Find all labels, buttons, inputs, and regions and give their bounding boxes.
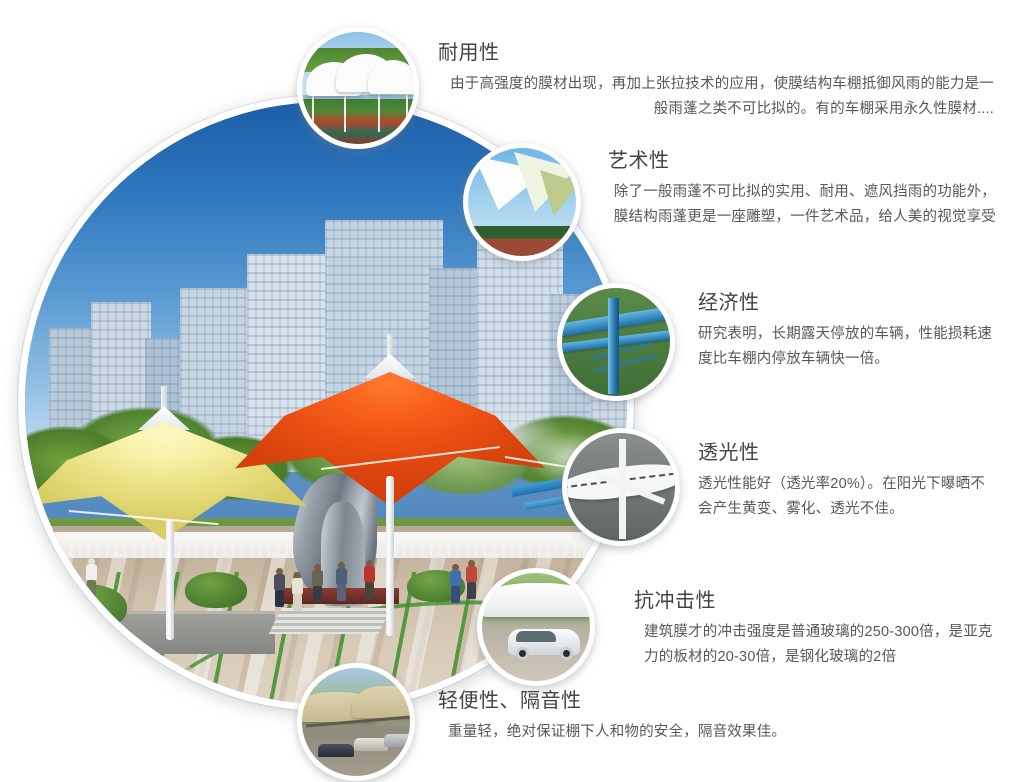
feature-thumb-economy[interactable] [557,283,675,401]
feature-title: 艺术性 [608,148,996,174]
feature-text-impact-resistance: 抗冲击性 建筑膜才的冲击强度是普通玻璃的250-300倍，是亚克力的板材的20-… [634,588,996,670]
pedestrian-legs [275,590,284,607]
thumb-sports-court [302,99,414,144]
thumb-image [302,32,414,144]
pedestrian-legs [451,586,460,603]
pedestrian-torso [312,570,323,587]
blue-steel-column [608,298,619,394]
thumb-image [482,573,590,681]
thumb-image [302,668,410,776]
feature-title: 轻便性、隔音性 [438,688,838,714]
feature-text-durability: 耐用性 由于高强度的膜材出现，再加上张拉技术的应用，使膜结构车棚抵御风雨的能力是… [438,40,994,122]
pedestrian-torso [466,566,477,583]
thumb-image [562,288,670,396]
thumb-image [468,148,576,256]
feature-body: 研究表明，长期露天停放的车辆，性能损耗速度比车棚内停放车辆快一倍。 [698,322,998,372]
feature-body: 由于高强度的膜材出现，再加上张拉技术的应用，使膜结构车棚抵御风雨的能力是一般雨蓬… [438,72,994,122]
parked-car [318,744,354,757]
thumb-running-track [468,226,576,256]
pedestrian-torso [364,566,375,583]
pedestrian-torso [336,568,347,585]
feature-text-lightweight-soundproof: 轻便性、隔音性 重量轻，绝对保证棚下人和物的安全，隔音效果佳。 [438,688,838,745]
parked-car [354,738,388,751]
suv-windows [516,631,556,642]
canopy-mast [166,520,174,640]
canopy-mast [386,476,394,636]
pedestrian-legs [365,582,374,599]
pedestrian-torso [274,574,285,591]
feature-body: 重量轻，绝对保证棚下人和物的安全，隔音效果佳。 [438,720,838,745]
feature-thumb-durability[interactable] [297,27,419,149]
feature-text-artistry: 艺术性 除了一般雨蓬不可比拟的实用、耐用、遮风挡雨的功能外，膜结构雨蓬更是一座雕… [608,148,996,230]
carport-roof [482,583,590,617]
infographic-stage: 耐用性 由于高强度的膜材出现，再加上张拉技术的应用，使膜结构车棚抵御风雨的能力是… [0,0,1023,782]
feature-body: 除了一般雨蓬不可比拟的实用、耐用、遮风挡雨的功能外，膜结构雨蓬更是一座雕塑，一件… [608,180,996,230]
pedestrian-legs [87,580,96,597]
beige-carport-roof [352,686,410,718]
suv-wheel [560,647,573,660]
pedestrian-legs [293,594,302,611]
feature-title: 经济性 [698,290,998,316]
pedestrian-torso [292,578,303,595]
pedestrian-legs [467,582,476,599]
feature-text-translucency: 透光性 透光性能好（透光率20%）。在阳光下曝晒不会产生黄变、雾化、透光不佳。 [698,440,998,522]
pedestrian-torso [86,564,97,581]
suv-wheel [516,647,529,660]
orange-membrane-canopy [235,348,545,518]
pedestrian-torso [450,570,461,587]
thumb-image [567,433,675,541]
feature-title: 耐用性 [438,40,994,66]
feature-title: 透光性 [698,440,998,466]
feature-body: 建筑膜才的冲击强度是普通玻璃的250-300倍，是亚克力的板材的20-30倍，是… [634,620,996,670]
feature-text-economy: 经济性 研究表明，长期露天停放的车辆，性能损耗速度比车棚内停放车辆快一倍。 [698,290,998,372]
feature-body: 透光性能好（透光率20%）。在阳光下曝晒不会产生黄变、雾化、透光不佳。 [698,472,998,522]
feature-thumb-impact-resistance[interactable] [477,568,595,686]
parked-car [384,734,410,747]
plaza-steps [269,608,392,634]
feature-thumb-artistry[interactable] [463,143,581,261]
canopy-post [406,90,408,132]
feature-thumb-translucency[interactable] [562,428,680,546]
shrub [185,572,247,608]
pedestrian-legs [313,586,322,603]
pedestrian-legs [337,584,346,601]
feature-thumb-lightweight-soundproof[interactable] [297,663,415,781]
feature-title: 抗冲击性 [634,588,996,614]
